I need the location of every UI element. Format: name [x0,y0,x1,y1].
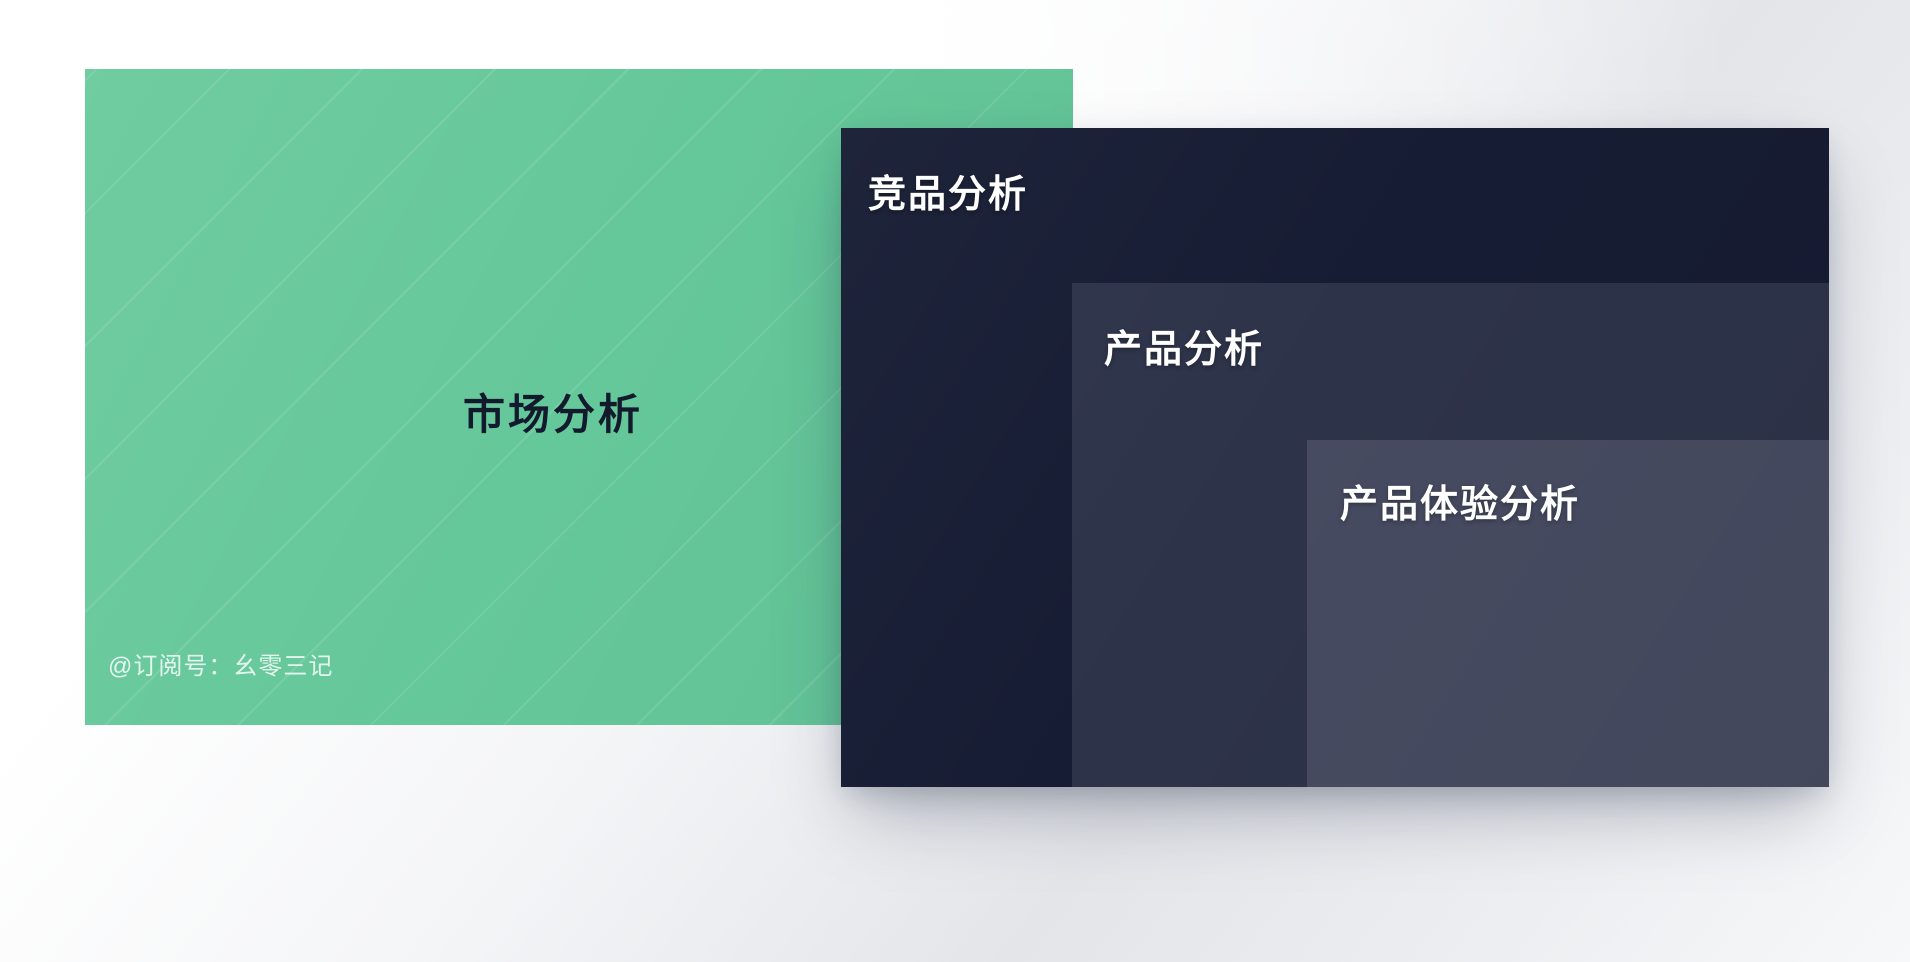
watermark-text: @订阅号：幺零三记 [108,646,333,681]
product-experience-analysis-label: 产品体验分析 [1340,473,1580,528]
diagram-stage: 市场分析 @订阅号：幺零三记 竞品分析 产品分析 产品体验分析 [0,0,1910,962]
nested-analysis-card[interactable]: 竞品分析 产品分析 产品体验分析 [841,128,1829,787]
product-analysis-label: 产品分析 [1104,318,1264,373]
competitive-analysis-label: 竞品分析 [868,163,1028,218]
